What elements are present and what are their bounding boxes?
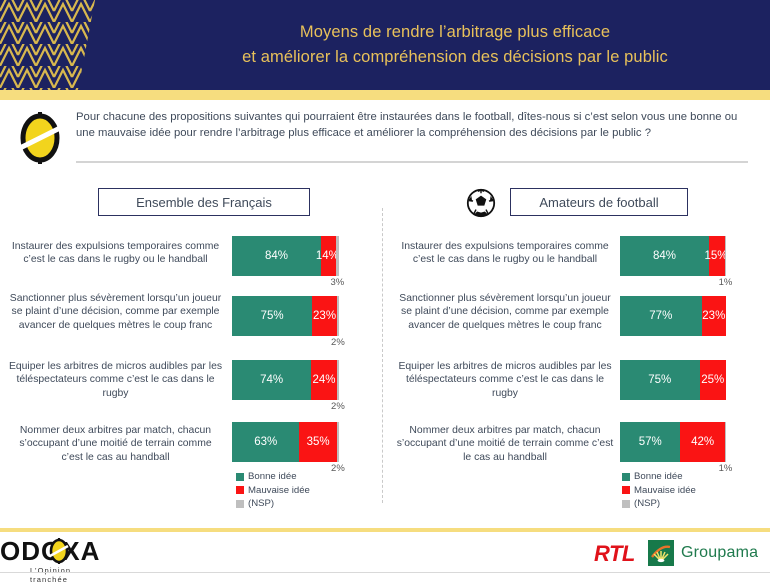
bar-segment-value: 2% [331,463,345,474]
legend-label: Mauvaise idée [634,484,696,498]
chevron-pattern-decoration [0,0,125,90]
bar-segment-bonne-id-e: 75% [232,296,312,336]
bar-segment-value: 77% [649,310,672,322]
bar-segment-value: 42% [691,436,714,448]
chart-row: Equiper les arbitres de micros audibles … [392,360,770,400]
bar-segment-value: 1% [719,277,733,288]
legend-item: (NSP) [236,497,310,511]
page-title-line-2: et améliorer la compréhension des décisi… [242,45,668,70]
chart-row-label: Instaurer des expulsions temporaires com… [8,240,223,267]
bar-segment-value: 57% [639,436,662,448]
bar-segment-bonne-id-e: 57% [620,422,680,462]
question-block: Pour chacune des propositions suivantes … [0,104,770,164]
bar-segment-bonne-id-e: 75% [620,360,700,400]
chart-legend-left: Bonne idéeMauvaise idée(NSP) [236,470,310,511]
bar-segment-value: 24% [312,374,335,386]
legend-item: Bonne idée [236,470,310,484]
chart-row-label: Sanctionner plus sévèrement lorsqu’un jo… [8,292,223,332]
stacked-bar: 84%15%1% [620,236,726,276]
chart-row: Nommer deux arbitres par match, chacun s… [392,422,770,462]
bar-segment-mauvaise-id-e: 25% [700,360,727,400]
legend-swatch-icon [236,486,244,494]
bar-segment-value: 2% [331,401,345,412]
stacked-bar: 57%42%1% [620,422,726,462]
groupama-wordmark: Groupama [681,544,758,562]
panel-title-ensemble-des-francais[interactable]: Ensemble des Français [98,188,310,216]
chart-row-label: Equiper les arbitres de micros audibles … [396,360,614,400]
bar-segment-value: 35% [307,436,330,448]
footer-bottom-line [0,572,770,573]
chart-row: Nommer deux arbitres par match, chacun s… [0,422,360,462]
legend-swatch-icon [236,473,244,481]
chart-row: Sanctionner plus sévèrement lorsqu’un jo… [392,296,770,336]
legend-swatch-icon [236,500,244,508]
bar-segment-nsp: 1% [725,236,726,276]
legend-label: (NSP) [634,497,660,511]
bar-segment-value: 74% [260,374,283,386]
legend-item: (NSP) [622,497,696,511]
soccer-ball-icon [466,188,496,218]
bar-segment-bonne-id-e: 77% [620,296,702,336]
legend-item: Mauvaise idée [622,484,696,498]
chart-panel-ensemble-des-francais: Instaurer des expulsions temporaires com… [0,236,360,476]
chart-row: Instaurer des expulsions temporaires com… [0,236,360,276]
groupama-logo: Groupama [648,540,758,566]
bar-segment-nsp: 2% [337,422,339,462]
legend-label: Bonne idée [634,470,683,484]
chart-panel-amateurs-de-football: Instaurer des expulsions temporaires com… [392,236,770,476]
bar-segment-value: 75% [648,374,671,386]
chart-row-label: Sanctionner plus sévèrement lorsqu’un jo… [396,292,614,332]
panel-title-amateurs-de-football[interactable]: Amateurs de football [510,188,688,216]
legend-item: Bonne idée [622,470,696,484]
bar-segment-value: 84% [265,250,288,262]
legend-swatch-icon [622,500,630,508]
stacked-bar: 84%14%3% [232,236,339,276]
bar-segment-mauvaise-id-e: 23% [312,296,337,336]
chart-row-label: Nommer deux arbitres par match, chacun s… [396,424,614,464]
bar-segment-bonne-id-e: 84% [620,236,709,276]
question-underline [76,161,748,163]
odoxa-shield-icon [48,538,70,564]
stacked-bar: 77%23% [620,296,726,336]
bar-segment-nsp: 2% [337,360,339,400]
page-header: Moyens de rendre l’arbitrage plus effica… [0,0,770,90]
legend-item: Mauvaise idée [236,484,310,498]
chart-row: Sanctionner plus sévèrement lorsqu’un jo… [0,296,360,336]
bar-segment-value: 23% [313,310,336,322]
bar-segment-value: 1% [719,463,733,474]
chart-row: Instaurer des expulsions temporaires com… [392,236,770,276]
legend-label: (NSP) [248,497,274,511]
page-title-line-1: Moyens de rendre l’arbitrage plus effica… [300,20,610,45]
bar-segment-value: 75% [261,310,284,322]
chart-row: Equiper les arbitres de micros audibles … [0,360,360,400]
bar-segment-value: 63% [254,436,277,448]
bar-segment-nsp: 1% [725,422,726,462]
bar-segment-mauvaise-id-e: 24% [311,360,337,400]
legend-label: Bonne idée [248,470,297,484]
bar-segment-mauvaise-id-e: 35% [299,422,336,462]
bar-segment-nsp: 2% [337,296,339,336]
stacked-bar: 63%35%2% [232,422,339,462]
bar-segment-mauvaise-id-e: 14% [321,236,336,276]
bar-segment-bonne-id-e: 63% [232,422,299,462]
question-text: Pour chacune des propositions suivantes … [76,109,748,141]
panel-divider [382,208,383,503]
stacked-bar: 75%23%2% [232,296,339,336]
odoxa-tagline: L’Opinion tranchée [30,566,71,584]
stacked-bar: 75%25% [620,360,726,400]
odoxa-logo-icon [18,112,62,164]
bar-segment-value: 23% [702,310,725,322]
bar-segment-value: 25% [701,374,724,386]
stacked-bar: 74%24%2% [232,360,339,400]
chart-row-label: Equiper les arbitres de micros audibles … [8,360,223,400]
bar-segment-mauvaise-id-e: 23% [702,296,726,336]
bar-segment-value: 2% [331,337,345,348]
bar-segment-value: 84% [653,250,676,262]
legend-swatch-icon [622,486,630,494]
bar-segment-bonne-id-e: 74% [232,360,311,400]
bar-segment-mauvaise-id-e: 42% [680,422,725,462]
chart-row-label: Nommer deux arbitres par match, chacun s… [8,424,223,464]
bar-segment-bonne-id-e: 84% [232,236,321,276]
header-gold-rule [0,90,770,100]
legend-label: Mauvaise idée [248,484,310,498]
rtl-logo: RTL [594,541,635,567]
page-title: Moyens de rendre l’arbitrage plus effica… [150,0,760,90]
bar-segment-mauvaise-id-e: 15% [709,236,725,276]
bar-segment-nsp: 3% [336,236,339,276]
chart-row-label: Instaurer des expulsions temporaires com… [396,240,614,267]
bar-segment-value: 3% [331,277,345,288]
groupama-mark-icon [648,540,674,566]
legend-swatch-icon [622,473,630,481]
chart-legend-right: Bonne idéeMauvaise idée(NSP) [622,470,696,511]
